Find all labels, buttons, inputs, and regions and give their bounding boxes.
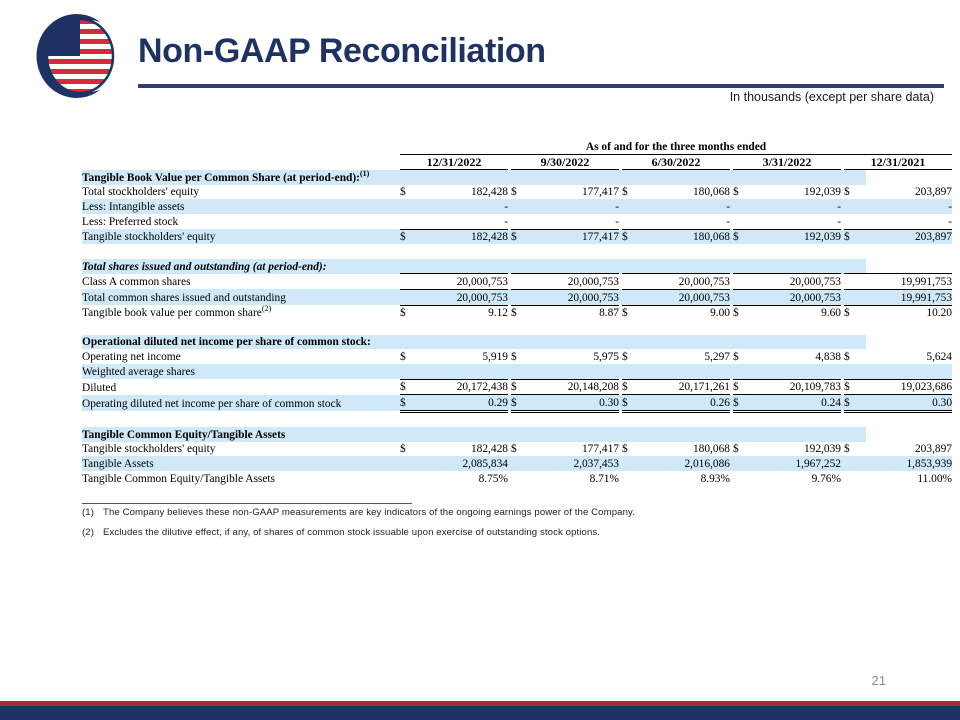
cell-value — [422, 364, 508, 379]
row-label: Total stockholders' equity — [82, 185, 400, 200]
cell-value: 20,000,753 — [644, 274, 730, 290]
section-title-fill — [844, 335, 866, 350]
cell-value: 20,000,753 — [755, 289, 841, 305]
column-header-3: 6/30/2022 — [622, 154, 730, 170]
section-title-fill — [622, 170, 644, 185]
page-title: Non-GAAP Reconciliation — [138, 32, 546, 71]
section-title-fill — [622, 427, 644, 442]
section-title-fill — [533, 259, 619, 274]
section-title-fill — [644, 335, 730, 350]
row-label: Operating diluted net income per share o… — [82, 395, 400, 412]
footnote-row: (2)Excludes the dilutive effect, if any,… — [82, 527, 635, 538]
currency-symbol — [511, 214, 533, 229]
row-label: Weighted average shares — [82, 364, 400, 379]
header-divider — [138, 84, 944, 88]
cell-value: 19,991,753 — [866, 274, 952, 290]
footnote-text: Excludes the dilutive effect, if any, of… — [103, 527, 600, 538]
table-row: Total stockholders' equity$182,428$177,4… — [82, 185, 952, 200]
cell-value: 203,897 — [866, 229, 952, 244]
table-row: Diluted$20,172,438$20,148,208$20,171,261… — [82, 379, 952, 395]
section-title-fill — [755, 259, 841, 274]
section-title: Total shares issued and outstanding (at … — [82, 259, 400, 274]
currency-symbol — [511, 274, 533, 290]
currency-symbol: $ — [844, 305, 866, 320]
currency-symbol: $ — [844, 349, 866, 364]
section-title-fill — [733, 259, 755, 274]
cell-value: 2,037,453 — [533, 456, 619, 471]
table-row: Less: Intangible assets----- — [82, 199, 952, 214]
section-title: Operational diluted net income per share… — [82, 335, 400, 350]
table-row: Total common shares issued and outstandi… — [82, 289, 952, 305]
header-spacer — [82, 154, 400, 170]
currency-symbol: $ — [511, 185, 533, 200]
currency-symbol: $ — [511, 229, 533, 244]
section-title-fill — [400, 170, 422, 185]
currency-symbol: $ — [844, 229, 866, 244]
section-title-fill — [644, 170, 730, 185]
row-label: Less: Preferred stock — [82, 214, 400, 229]
section-title-fill — [733, 427, 755, 442]
currency-symbol: $ — [400, 185, 422, 200]
section-title-fill — [844, 170, 866, 185]
units-subtitle: In thousands (except per share data) — [730, 90, 934, 104]
section-title-fill — [733, 170, 755, 185]
currency-symbol — [400, 214, 422, 229]
cell-value: 20,000,753 — [755, 274, 841, 290]
currency-symbol — [400, 274, 422, 290]
currency-symbol — [733, 274, 755, 290]
cell-value: 1,967,252 — [755, 456, 841, 471]
cell-value: 182,428 — [422, 442, 508, 457]
row-label: Tangible Common Equity/Tangible Assets — [82, 471, 400, 486]
section-spacer — [82, 244, 844, 259]
column-header-2: 9/30/2022 — [511, 154, 619, 170]
currency-symbol: $ — [844, 395, 866, 412]
row-label: Tangible book value per common share(2) — [82, 305, 400, 320]
currency-symbol: $ — [622, 395, 644, 412]
table-row: Weighted average shares — [82, 364, 952, 379]
currency-symbol — [844, 471, 866, 486]
reconciliation-table: As of and for the three months ended12/3… — [82, 139, 952, 500]
section-title-fill — [400, 427, 422, 442]
cell-value: - — [866, 214, 952, 229]
section-title-fill — [844, 259, 866, 274]
currency-symbol — [622, 471, 644, 486]
section-title-fill — [422, 427, 508, 442]
table-row: Tangible book value per common share(2)$… — [82, 305, 952, 320]
footer-bar — [0, 706, 960, 720]
cell-value: 20,000,753 — [533, 289, 619, 305]
cell-value: 1,853,939 — [866, 456, 952, 471]
cell-value: - — [533, 199, 619, 214]
table-row: Tangible stockholders' equity$182,428$17… — [82, 229, 952, 244]
cell-value: 2,016,086 — [644, 456, 730, 471]
currency-symbol: $ — [733, 442, 755, 457]
cell-value: 20,148,208 — [533, 379, 619, 395]
cell-value: 203,897 — [866, 442, 952, 457]
currency-symbol — [733, 471, 755, 486]
cell-value: 5,975 — [533, 349, 619, 364]
cell-value: 9.00 — [644, 305, 730, 320]
footnote-divider — [82, 503, 412, 504]
section-title: Tangible Common Equity/Tangible Assets — [82, 427, 400, 442]
currency-symbol: $ — [733, 305, 755, 320]
section-title-fill — [422, 259, 508, 274]
cell-value: 20,000,753 — [422, 274, 508, 290]
currency-symbol — [844, 214, 866, 229]
cell-value: 8.87 — [533, 305, 619, 320]
footnote-number: (2) — [82, 527, 103, 538]
currency-symbol — [400, 471, 422, 486]
footnote-text: The Company believes these non-GAAP meas… — [103, 507, 635, 518]
section-title-footnote-marker: (1) — [360, 169, 369, 178]
currency-symbol: $ — [622, 305, 644, 320]
section-title-fill — [644, 259, 730, 274]
cell-value: 20,172,438 — [422, 379, 508, 395]
currency-symbol: $ — [400, 305, 422, 320]
cell-value: 8.71% — [533, 471, 619, 486]
cell-value — [644, 364, 730, 379]
cell-value: 192,039 — [755, 185, 841, 200]
footnote-row: (1)The Company believes these non-GAAP m… — [82, 507, 635, 518]
currency-symbol — [511, 471, 533, 486]
cell-value: 0.30 — [533, 395, 619, 412]
section-title-fill — [622, 259, 644, 274]
currency-symbol: $ — [622, 349, 644, 364]
section-title-fill — [844, 427, 866, 442]
cell-value: 0.26 — [644, 395, 730, 412]
currency-symbol — [733, 456, 755, 471]
cell-value: 20,000,753 — [533, 274, 619, 290]
cell-value: 9.76% — [755, 471, 841, 486]
currency-symbol — [511, 364, 533, 379]
row-label: Less: Intangible assets — [82, 199, 400, 214]
cell-value: 20,109,783 — [755, 379, 841, 395]
currency-symbol: $ — [733, 395, 755, 412]
row-label: Tangible Assets — [82, 456, 400, 471]
column-header-5: 12/31/2021 — [844, 154, 952, 170]
cell-value: 4,838 — [755, 349, 841, 364]
currency-symbol — [844, 199, 866, 214]
currency-symbol — [622, 456, 644, 471]
row-label: Tangible stockholders' equity — [82, 229, 400, 244]
section-spacer — [82, 411, 844, 427]
section-title-fill — [755, 170, 841, 185]
table-row: Tangible Common Equity/Tangible Assets8.… — [82, 471, 952, 486]
currency-symbol: $ — [622, 185, 644, 200]
cell-value: 20,000,753 — [422, 289, 508, 305]
currency-symbol: $ — [400, 395, 422, 412]
cell-value: - — [644, 214, 730, 229]
currency-symbol: $ — [511, 349, 533, 364]
currency-symbol: $ — [622, 379, 644, 395]
cell-value: 20,000,753 — [644, 289, 730, 305]
section-title-fill — [622, 335, 644, 350]
currency-symbol: $ — [844, 442, 866, 457]
table-row: Operating diluted net income per share o… — [82, 395, 952, 412]
section-spacer — [82, 320, 844, 335]
page-number: 21 — [872, 673, 886, 688]
currency-symbol — [844, 364, 866, 379]
cell-value: 2,085,834 — [422, 456, 508, 471]
footnotes-block: (1)The Company believes these non-GAAP m… — [82, 507, 635, 547]
row-label: Tangible stockholders' equity — [82, 442, 400, 457]
currency-symbol — [511, 456, 533, 471]
cell-value: 9.12 — [422, 305, 508, 320]
table-row: Class A common shares20,000,75320,000,75… — [82, 274, 952, 290]
flag-globe-logo-icon — [28, 12, 124, 100]
cell-value: 8.93% — [644, 471, 730, 486]
currency-symbol: $ — [400, 349, 422, 364]
reconciliation-table-container: As of and for the three months ended12/3… — [82, 139, 944, 500]
table-row: Tangible stockholders' equity$182,428$17… — [82, 442, 952, 457]
cell-value: 5,624 — [866, 349, 952, 364]
currency-symbol: $ — [511, 395, 533, 412]
currency-symbol: $ — [733, 379, 755, 395]
cell-value: 19,991,753 — [866, 289, 952, 305]
currency-symbol — [733, 289, 755, 305]
column-header-1: 12/31/2022 — [400, 154, 508, 170]
cell-value: 8.75% — [422, 471, 508, 486]
section-title-fill — [511, 259, 533, 274]
section-title-fill — [511, 170, 533, 185]
cell-value — [755, 364, 841, 379]
section-title-fill — [400, 335, 422, 350]
cell-value: 180,068 — [644, 185, 730, 200]
cell-value: 20,171,261 — [644, 379, 730, 395]
cell-value: 0.30 — [866, 395, 952, 412]
cell-value: 180,068 — [644, 442, 730, 457]
currency-symbol — [733, 214, 755, 229]
section-title-fill — [533, 170, 619, 185]
cell-value: 177,417 — [533, 229, 619, 244]
cell-value: 0.29 — [422, 395, 508, 412]
cell-value: - — [644, 199, 730, 214]
table-end-spacer — [82, 486, 844, 501]
cell-value: 11.00% — [866, 471, 952, 486]
cell-value — [533, 364, 619, 379]
row-label: Class A common shares — [82, 274, 400, 290]
cell-value: 192,039 — [755, 442, 841, 457]
table-row: Operating net income$5,919$5,975$5,297$4… — [82, 349, 952, 364]
currency-symbol — [511, 199, 533, 214]
currency-symbol: $ — [400, 229, 422, 244]
currency-symbol: $ — [733, 349, 755, 364]
section-title-fill — [733, 335, 755, 350]
table-row: Less: Preferred stock----- — [82, 214, 952, 229]
cell-value: - — [422, 199, 508, 214]
cell-value: 5,919 — [422, 349, 508, 364]
header-spacer — [82, 139, 400, 154]
section-title-fill — [755, 335, 841, 350]
section-title-fill — [533, 335, 619, 350]
row-label: Operating net income — [82, 349, 400, 364]
currency-symbol: $ — [400, 379, 422, 395]
currency-symbol: $ — [844, 185, 866, 200]
currency-symbol: $ — [622, 442, 644, 457]
cell-value: - — [533, 214, 619, 229]
currency-symbol: $ — [622, 229, 644, 244]
cell-value: 9.60 — [755, 305, 841, 320]
section-title-fill — [533, 427, 619, 442]
cell-value: - — [866, 199, 952, 214]
currency-symbol — [733, 199, 755, 214]
section-title-fill — [644, 427, 730, 442]
currency-symbol — [622, 364, 644, 379]
cell-value: 203,897 — [866, 185, 952, 200]
currency-symbol: $ — [733, 229, 755, 244]
cell-value: 0.24 — [755, 395, 841, 412]
table-row: Tangible Assets2,085,8342,037,4532,016,0… — [82, 456, 952, 471]
currency-symbol — [622, 199, 644, 214]
cell-value: - — [755, 199, 841, 214]
currency-symbol: $ — [733, 185, 755, 200]
cell-value: - — [755, 214, 841, 229]
currency-symbol — [844, 289, 866, 305]
table-span-header: As of and for the three months ended — [400, 139, 952, 154]
cell-value: 192,039 — [755, 229, 841, 244]
currency-symbol: $ — [511, 379, 533, 395]
cell-value: - — [422, 214, 508, 229]
currency-symbol — [622, 214, 644, 229]
section-title-fill — [422, 335, 508, 350]
column-header-4: 3/31/2022 — [733, 154, 841, 170]
section-title: Tangible Book Value per Common Share (at… — [82, 170, 400, 185]
row-label: Total common shares issued and outstandi… — [82, 289, 400, 305]
cell-value: 5,297 — [644, 349, 730, 364]
row-label-footnote-marker: (2) — [262, 304, 271, 313]
currency-symbol: $ — [511, 305, 533, 320]
currency-symbol — [400, 456, 422, 471]
currency-symbol — [622, 274, 644, 290]
currency-symbol — [400, 364, 422, 379]
cell-value: 180,068 — [644, 229, 730, 244]
cell-value: 182,428 — [422, 185, 508, 200]
cell-value: 182,428 — [422, 229, 508, 244]
footnote-number: (1) — [82, 507, 103, 518]
section-title-fill — [400, 259, 422, 274]
section-title-fill — [755, 427, 841, 442]
cell-value: 10.20 — [866, 305, 952, 320]
currency-symbol — [733, 364, 755, 379]
currency-symbol — [400, 199, 422, 214]
slide-header: Non-GAAP Reconciliation In thousands (ex… — [0, 0, 960, 112]
cell-value: 177,417 — [533, 442, 619, 457]
currency-symbol: $ — [400, 442, 422, 457]
row-label: Diluted — [82, 379, 400, 395]
currency-symbol — [511, 289, 533, 305]
currency-symbol — [622, 289, 644, 305]
cell-value: 177,417 — [533, 185, 619, 200]
cell-value: 19,023,686 — [866, 379, 952, 395]
currency-symbol — [844, 274, 866, 290]
currency-symbol: $ — [511, 442, 533, 457]
currency-symbol — [844, 456, 866, 471]
section-title-fill — [511, 427, 533, 442]
table-body: As of and for the three months ended12/3… — [82, 139, 952, 500]
currency-symbol: $ — [844, 379, 866, 395]
currency-symbol — [400, 289, 422, 305]
section-title-fill — [511, 335, 533, 350]
cell-value — [866, 364, 952, 379]
section-title-fill — [422, 170, 508, 185]
